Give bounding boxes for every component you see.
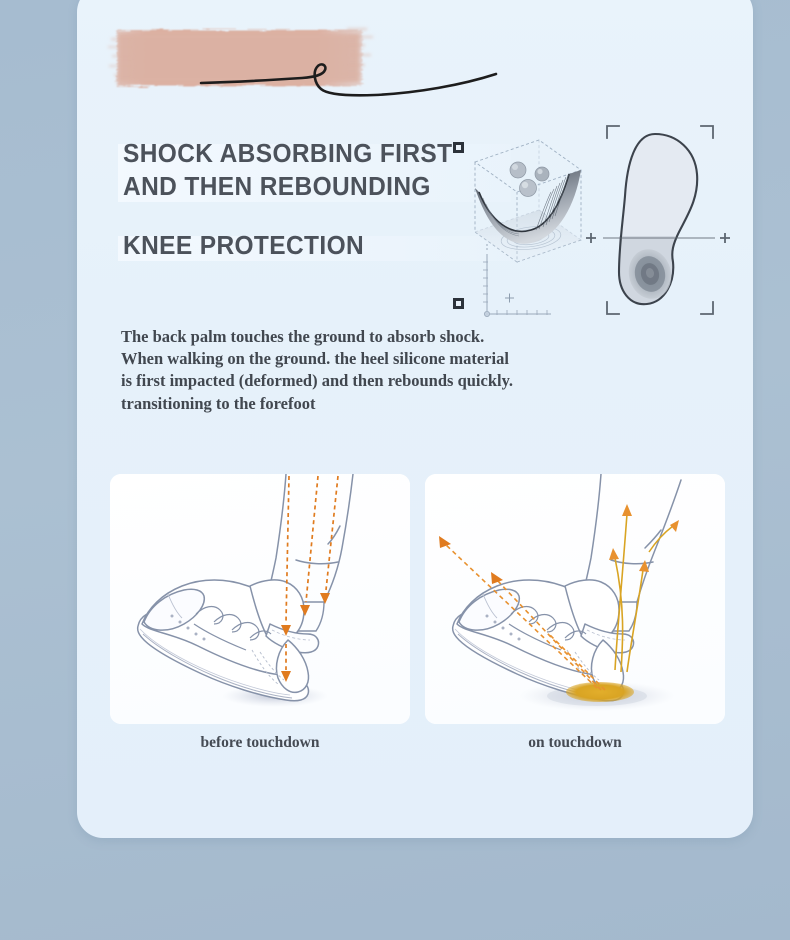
panel-captions: before touchdown on touchdown [110,734,726,752]
caption-on-touchdown: on touchdown [425,734,725,752]
heading-line-1: SHOCK ABSORBING FIRST [123,138,507,171]
heading-group: SHOCK ABSORBING FIRST AND THEN REBOUNDIN… [123,138,523,263]
squiggle-line-shape [201,64,496,95]
infographic-page: SHOCK ABSORBING FIRST AND THEN REBOUNDIN… [0,0,790,940]
description-paragraph: The back palm touches the ground to abso… [121,326,521,415]
square-marker-icon-lower [453,298,464,309]
insole-figure [585,116,735,326]
heading-band-secondary: KNEE PROTECTION [123,230,523,263]
header-decoration [97,10,517,134]
heading-line-3: KNEE PROTECTION [123,230,507,263]
brush-stroke-shape [108,28,373,86]
content-card: SHOCK ABSORBING FIRST AND THEN REBOUNDIN… [77,0,753,838]
particle-spheres [510,162,549,197]
panel-before-touchdown [110,474,410,724]
comparison-panels [110,474,726,724]
panel-on-touchdown [425,474,725,724]
impact-zone [566,682,634,702]
heading-band-primary: SHOCK ABSORBING FIRST AND THEN REBOUNDIN… [123,138,523,204]
heading-line-2: AND THEN REBOUNDING [123,171,507,204]
caption-before-touchdown: before touchdown [110,734,410,752]
